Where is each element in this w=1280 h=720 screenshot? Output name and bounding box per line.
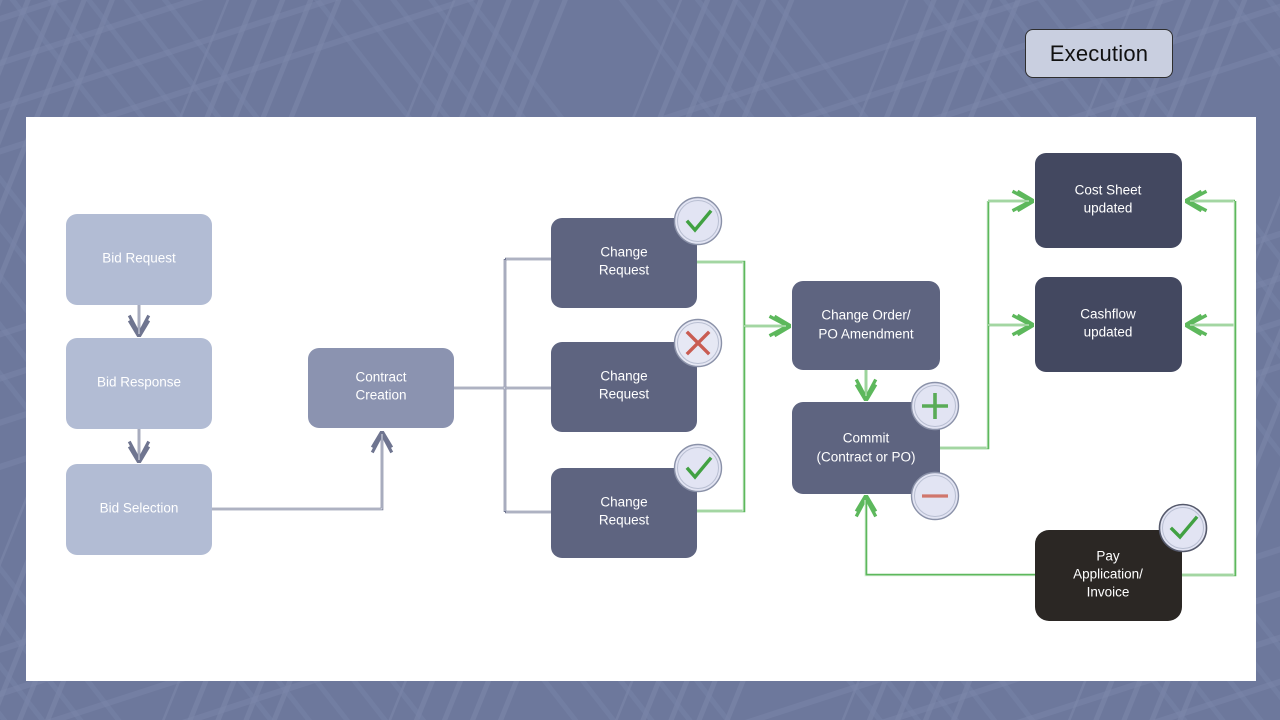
diagram-canvas bbox=[26, 117, 1256, 681]
slide-title-text: Execution bbox=[1050, 41, 1148, 67]
slide-title-chip[interactable]: Execution bbox=[1025, 29, 1173, 78]
